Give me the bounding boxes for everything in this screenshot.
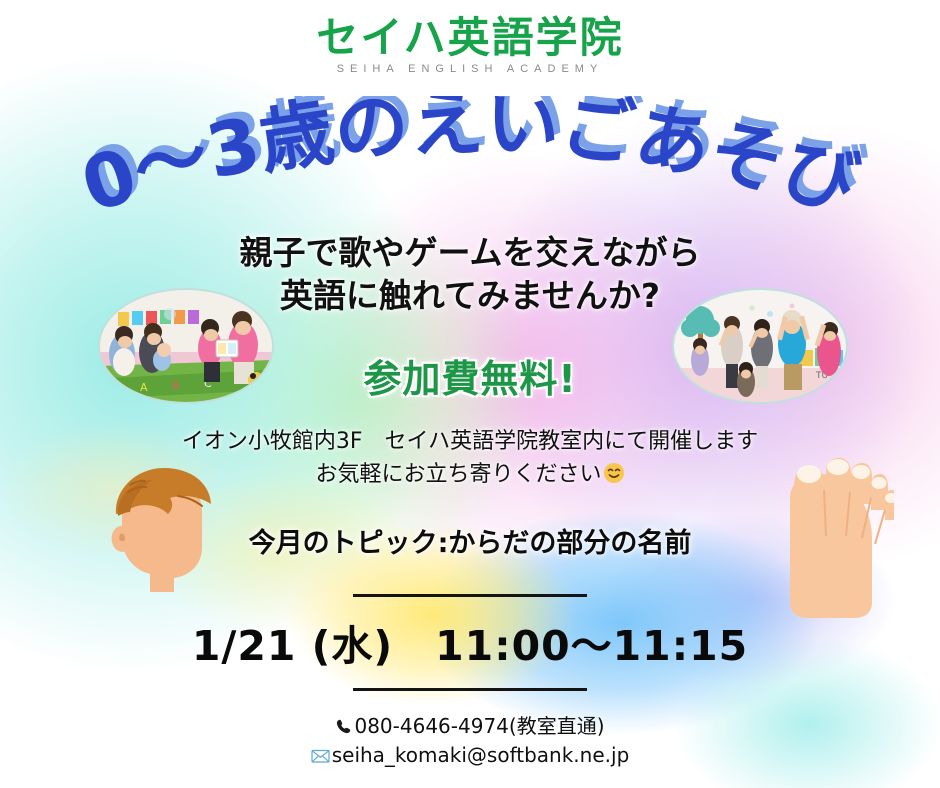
headline-wordart: 0〜3歳のえいごあそび 0〜3歳のえいごあそび (0, 96, 940, 226)
monthly-topic: 今月のトピック:からだの部分の名前 (0, 521, 940, 560)
brand-name-en: SEIHA ENGLISH ACADEMY (0, 63, 940, 75)
contact-email-line[interactable]: seiha_komaki@softbank.ne.jp (0, 741, 940, 770)
divider-top (353, 594, 587, 597)
contact-email-text: seiha_komaki@softbank.ne.jp (332, 743, 630, 767)
venue-line-1: イオン小牧館内3F セイハ英語学院教室内にて開催します (0, 425, 940, 458)
contact-phone-text: 080-4646-4974(教室直通) (354, 714, 604, 738)
headline-text: 0〜3歳のえいごあそび (72, 96, 867, 226)
venue-line-2-wrap: お気軽にお立ち寄りください (0, 458, 940, 494)
contact-phone-line[interactable]: 080-4646-4974(教室直通) (0, 712, 940, 741)
phone-icon (335, 718, 352, 735)
flyer-poster: セイハ英語学院 SEIHA ENGLISH ACADEMY 0〜3歳のえいごあそ… (0, 0, 940, 788)
contact-block: 080-4646-4974(教室直通) seiha_komaki@softban… (0, 712, 940, 770)
subheadline-line-2: 英語に触れてみませんか? (0, 275, 940, 318)
divider-bottom (353, 688, 587, 691)
venue-line-2: お気軽にお立ち寄りください (315, 462, 601, 487)
envelope-icon (311, 748, 330, 764)
smiling-face-icon (603, 461, 625, 494)
subheadline-line-1: 親子で歌やゲームを交えながら (0, 232, 940, 275)
free-admission-notice: 参加費無料! (0, 348, 940, 403)
brand-logo: セイハ英語学院 SEIHA ENGLISH ACADEMY (0, 16, 940, 75)
venue-info: イオン小牧館内3F セイハ英語学院教室内にて開催します お気軽にお立ち寄りくださ… (0, 425, 940, 494)
subheadline: 親子で歌やゲームを交えながら 英語に触れてみませんか? (0, 232, 940, 318)
event-datetime: 1/21 (水) 11:00〜11:15 (0, 612, 940, 672)
brand-name-ja: セイハ英語学院 (0, 16, 940, 60)
